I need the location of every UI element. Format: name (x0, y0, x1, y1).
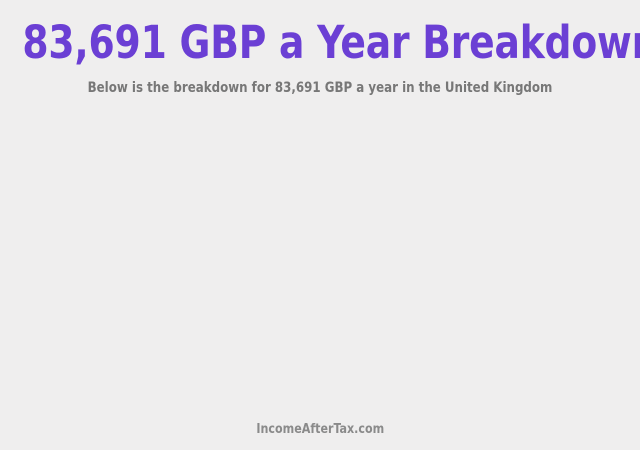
chart-plot-area (0, 112, 640, 410)
page-header: 83,691 GBP a Year Breakdown Below is the… (0, 0, 640, 97)
page-subtitle: Below is the breakdown for 83,691 GBP a … (19, 68, 621, 96)
site-name-label: IncomeAfterTax.com (256, 423, 384, 437)
footer: IncomeAfterTax.com (0, 420, 640, 438)
page-title: 83,691 GBP a Year Breakdown (22, 0, 617, 68)
breakdown-page: 83,691 GBP a Year Breakdown Below is the… (0, 0, 640, 450)
